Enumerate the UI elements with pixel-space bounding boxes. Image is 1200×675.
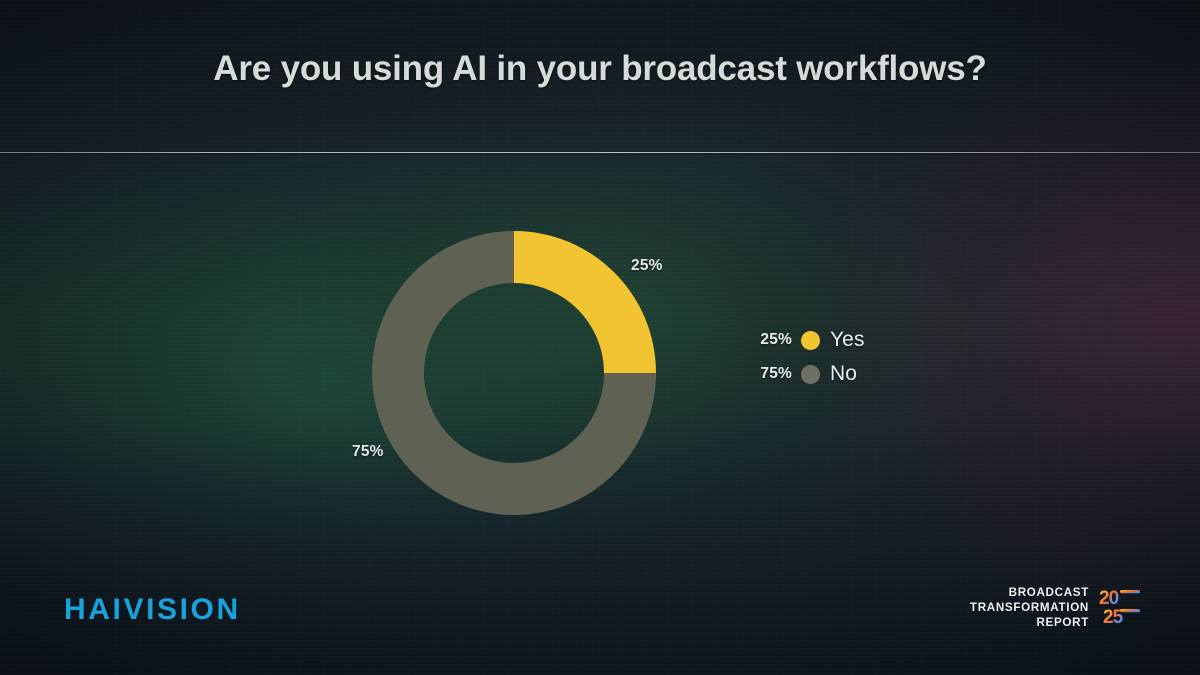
data-label-no: 75% (352, 443, 384, 461)
report-title-text: Broadcast Transformation Report (970, 586, 1089, 630)
report-line-2: Transformation (970, 601, 1089, 616)
legend-percent-yes: 25% (746, 331, 792, 349)
legend-percent-no: 75% (746, 365, 792, 383)
chart-legend: 25% Yes 75% No (746, 328, 865, 386)
legend-swatch-yes-icon (801, 331, 820, 350)
page-title: Are you using AI in your broadcast workf… (0, 49, 1200, 89)
haivision-logo: HAIVISION (64, 595, 241, 625)
legend-item-yes[interactable]: 25% Yes (746, 328, 865, 352)
legend-label-yes: Yes (830, 328, 865, 352)
donut-slice-yes[interactable] (514, 231, 656, 373)
report-line-3: Report (970, 616, 1089, 631)
donut-chart-svg (372, 231, 656, 515)
report-year-top: 20 (1099, 588, 1119, 609)
legend-swatch-no-icon (801, 365, 820, 384)
broadcast-transformation-report-lockup: Broadcast Transformation Report 20 25 (970, 586, 1142, 630)
report-year-2025-icon: 20 25 (1098, 587, 1142, 629)
slide-canvas: Are you using AI in your broadcast workf… (0, 0, 1200, 675)
data-label-yes: 25% (631, 257, 663, 275)
donut-chart (372, 231, 656, 515)
header-divider (0, 152, 1200, 153)
legend-item-no[interactable]: 75% No (746, 362, 865, 386)
legend-label-no: No (830, 362, 857, 386)
report-line-1: Broadcast (970, 586, 1089, 601)
